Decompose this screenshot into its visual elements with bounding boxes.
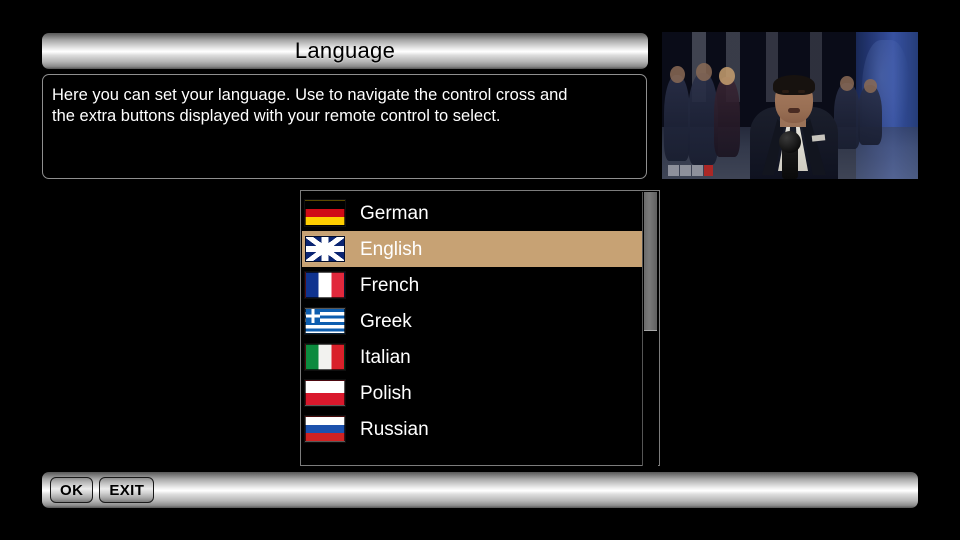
flag-russia-icon	[305, 416, 345, 442]
channel-logo-block	[680, 165, 691, 176]
list-item[interactable]: English	[302, 231, 644, 267]
description-text: Here you can set your language. Use to n…	[52, 85, 636, 127]
list-item-label: Italian	[360, 348, 411, 367]
list-item[interactable]: Italian	[302, 339, 644, 375]
channel-logo	[668, 165, 714, 176]
flag-poland-icon	[305, 380, 345, 406]
flag-united-kingdom-icon	[305, 236, 345, 262]
list-item-label: English	[360, 240, 422, 259]
video-crowd-head	[670, 66, 685, 83]
exit-button[interactable]: EXIT	[99, 477, 154, 503]
video-preview[interactable]	[662, 32, 918, 179]
flag-greece-icon	[305, 308, 345, 334]
video-crowd-figure	[858, 85, 882, 145]
video-crowd-head	[719, 67, 735, 85]
video-crowd-head	[864, 79, 877, 93]
list-item[interactable]: Russian	[302, 411, 644, 447]
channel-logo-accent	[704, 165, 713, 176]
video-crowd-figure	[664, 75, 690, 161]
language-list-panel[interactable]: German English French Greek Italian Poli	[300, 190, 660, 466]
list-item[interactable]: Greek	[302, 303, 644, 339]
video-crowd-head	[696, 63, 712, 81]
list-item-label: German	[360, 204, 429, 223]
title-bar: Language	[42, 33, 648, 69]
video-reporter-mouth	[788, 108, 800, 113]
list-item[interactable]: German	[302, 195, 644, 231]
flag-france-icon	[305, 272, 345, 298]
list-item[interactable]: French	[302, 267, 644, 303]
list-item[interactable]: Polish	[302, 375, 644, 411]
video-reporter-hair	[773, 75, 815, 95]
list-scrollbar-thumb[interactable]	[644, 192, 657, 331]
language-list: German English French Greek Italian Poli	[302, 195, 644, 447]
bottom-button-bar: OK EXIT	[42, 472, 918, 508]
channel-logo-block	[692, 165, 703, 176]
list-item-label: French	[360, 276, 419, 295]
video-crowd-figure	[714, 77, 740, 157]
ok-button[interactable]: OK	[50, 477, 93, 503]
flag-italy-icon	[305, 344, 345, 370]
video-microphone-head	[779, 131, 801, 153]
description-panel: Here you can set your language. Use to n…	[42, 74, 647, 179]
channel-logo-block	[668, 165, 679, 176]
video-reporter-eye-right	[798, 90, 805, 93]
video-crowd-head	[840, 76, 854, 91]
list-scrollbar-track[interactable]	[642, 192, 658, 466]
list-item-label: Polish	[360, 384, 412, 403]
tv-settings-screen: Language Here you can set your language.…	[0, 0, 960, 540]
list-item-label: Russian	[360, 420, 429, 439]
flag-germany-icon	[305, 200, 345, 226]
video-reporter-eye-left	[782, 90, 789, 93]
page-title: Language	[295, 38, 395, 64]
list-item-label: Greek	[360, 312, 412, 331]
